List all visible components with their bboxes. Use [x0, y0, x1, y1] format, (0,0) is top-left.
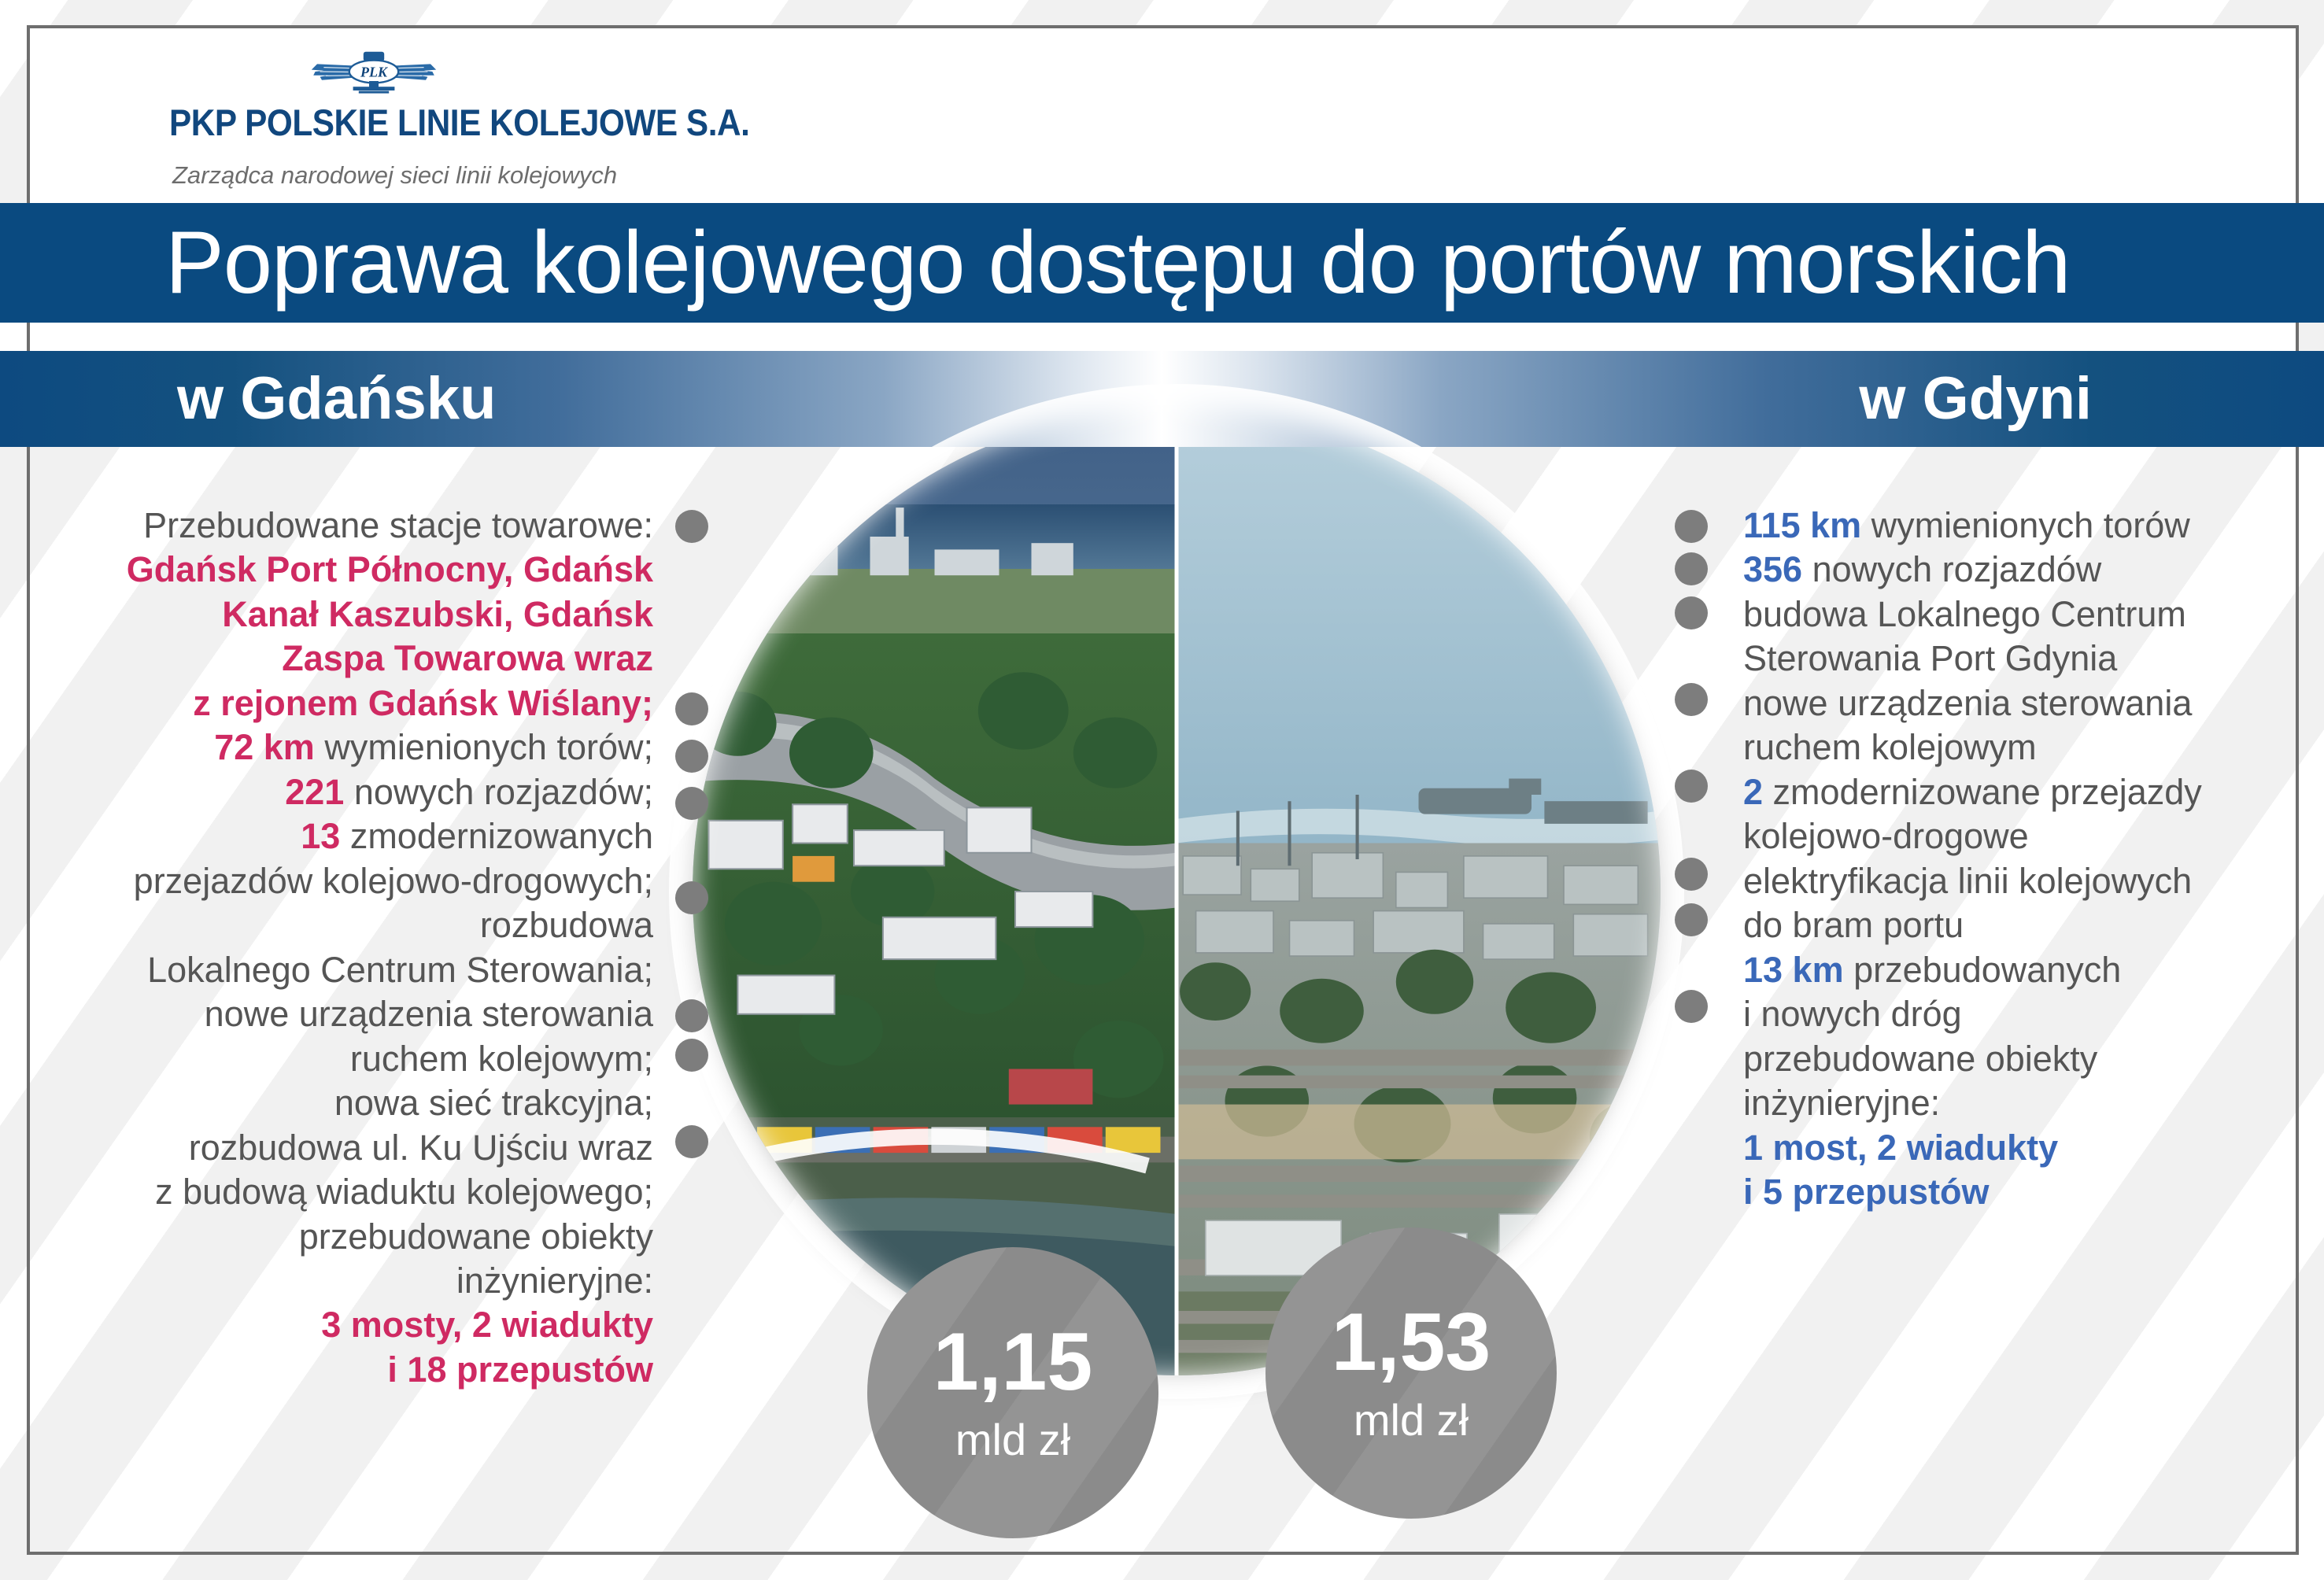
gdansk-fact-highlight: i 18 przepustów — [387, 1349, 653, 1390]
gdansk-fact-line: nowe urządzenia sterowania — [47, 992, 653, 1036]
gdynia-fact-text: ruchem kolejowym — [1743, 727, 2037, 767]
gdansk-fact-line: inżynieryjne: — [47, 1259, 653, 1303]
gdansk-fact-highlight: 13 — [301, 816, 340, 856]
company-tagline: Zarządca narodowej sieci linii kolejowyc… — [172, 161, 814, 190]
gdansk-fact-text: Lokalnego Centrum Sterowania; — [147, 950, 653, 990]
gdansk-fact-text: inżynieryjne: — [456, 1261, 653, 1301]
gdansk-fact-line: Zaspa Towarowa wraz — [47, 637, 653, 681]
gdansk-fact-line: nowa sieć trakcyjna; — [47, 1081, 653, 1125]
gdansk-bullet-dot-icon — [675, 510, 708, 543]
gdynia-bullet-dot-icon — [1675, 770, 1708, 803]
gdynia-fact-line: 1 most, 2 wiadukty — [1743, 1126, 2294, 1170]
gdynia-fact-line: Sterowania Port Gdynia — [1743, 637, 2294, 681]
gdansk-facts-list: Przebudowane stacje towarowe:Gdańsk Port… — [47, 504, 653, 1392]
gdynia-fact-line: do bram portu — [1743, 903, 2294, 947]
gdansk-bullet-dot-icon — [675, 881, 708, 914]
gdynia-fact-line: 2 zmodernizowane przejazdy — [1743, 770, 2294, 814]
gdansk-fact-text: rozbudowa ul. Ku Ujściu wraz — [189, 1128, 653, 1168]
gdynia-fact-line: ruchem kolejowym — [1743, 725, 2294, 770]
gdansk-fact-line: 3 mosty, 2 wiadukty — [47, 1303, 653, 1347]
bar-separator — [30, 323, 2296, 351]
gdynia-fact-line: budowa Lokalnego Centrum — [1743, 592, 2294, 637]
cost-badge-gdynia: 1,53 mld zł — [1265, 1227, 1557, 1519]
gdynia-fact-text: wymienionych torów — [1861, 505, 2190, 545]
gdynia-fact-text: inżynieryjne: — [1743, 1083, 1940, 1123]
gdynia-fact-text: elektryfikacja linii kolejowych — [1743, 861, 2192, 901]
gdynia-bullet-dot-icon — [1675, 510, 1708, 543]
gdynia-facts-list: 115 km wymienionych torów356 nowych rozj… — [1743, 504, 2294, 1215]
gdynia-fact-line: 356 nowych rozjazdów — [1743, 548, 2294, 592]
gdansk-fact-highlight: Kanał Kaszubski, Gdańsk — [222, 594, 653, 634]
cost-unit-gdynia: mld zł — [1354, 1394, 1469, 1445]
gdynia-fact-line: i 5 przepustów — [1743, 1170, 2294, 1214]
gdansk-fact-line: Kanał Kaszubski, Gdańsk — [47, 592, 653, 637]
city-header-bar: w Gdańsku w Gdyni — [0, 351, 2324, 447]
gdansk-fact-text: nowa sieć trakcyjna; — [334, 1083, 653, 1123]
gdansk-fact-highlight: 221 — [285, 772, 344, 812]
gdynia-fact-text: do bram portu — [1743, 905, 1964, 945]
photo-split-divider — [1175, 408, 1179, 1375]
gdynia-fact-highlight: 115 km — [1743, 505, 1861, 545]
gdynia-fact-text: przebudowanych — [1844, 950, 2122, 990]
gdynia-fact-text: Sterowania Port Gdynia — [1743, 638, 2117, 678]
gdynia-fact-text: nowe urządzenia sterowania — [1743, 683, 2192, 723]
gdansk-fact-line: 13 zmodernizowanych — [47, 814, 653, 858]
gdansk-fact-line: Przebudowane stacje towarowe: — [47, 504, 653, 548]
gdynia-bullet-dot-icon — [1675, 683, 1708, 716]
gdynia-fact-line: 13 km przebudowanych — [1743, 948, 2294, 992]
gdynia-fact-highlight: 356 — [1743, 549, 1802, 589]
gdansk-fact-text: przejazdów kolejowo-drogowych; — [134, 861, 653, 901]
gdynia-fact-text: kolejowo-drogowe — [1743, 816, 2029, 856]
gdansk-fact-highlight: 3 mosty, 2 wiadukty — [321, 1305, 653, 1345]
aerial-photo-gdansk — [693, 408, 1177, 1375]
gdansk-fact-line: z budową wiaduktu kolejowego; — [47, 1170, 653, 1214]
gdansk-bullet-dot-icon — [675, 692, 708, 725]
gdansk-bullet-dot-icon — [675, 740, 708, 773]
gdansk-fact-text: nowe urządzenia sterowania — [205, 994, 653, 1034]
gdynia-fact-text: nowych rozjazdów — [1802, 549, 2101, 589]
gdynia-fact-text: i nowych dróg — [1743, 994, 1962, 1034]
gdynia-bullet-dot-icon — [1675, 903, 1708, 936]
gdansk-fact-text: rozbudowa — [480, 905, 653, 945]
gdynia-fact-line: inżynieryjne: — [1743, 1081, 2294, 1125]
gdansk-fact-line: Gdańsk Port Północny, Gdańsk — [47, 548, 653, 592]
gdansk-bullet-dot-icon — [675, 999, 708, 1032]
city-label-gdansk: w Gdańsku — [177, 369, 496, 429]
gdansk-fact-line: ruchem kolejowym; — [47, 1037, 653, 1081]
gdynia-fact-highlight: 13 km — [1743, 950, 1844, 990]
page-title: Poprawa kolejowego dostępu do portów mor… — [165, 219, 2070, 307]
gdynia-fact-line: 115 km wymienionych torów — [1743, 504, 2294, 548]
gdansk-bullet-dot-icon — [675, 1039, 708, 1072]
gdansk-fact-highlight: z rejonem Gdańsk Wiślany; — [193, 683, 653, 723]
gdynia-fact-highlight: i 5 przepustów — [1743, 1172, 1990, 1212]
gdansk-fact-line: Lokalnego Centrum Sterowania; — [47, 948, 653, 992]
gdynia-fact-highlight: 1 most, 2 wiadukty — [1743, 1128, 2058, 1168]
gdansk-fact-line: 221 nowych rozjazdów; — [47, 770, 653, 814]
brand-logo-block: PLK PKP POLSKIE LINIE KOLEJOWE S.A. Zarz… — [169, 47, 814, 190]
gdynia-fact-line: i nowych dróg — [1743, 992, 2294, 1036]
gdynia-fact-text: przebudowane obiekty — [1743, 1039, 2097, 1079]
cost-unit-gdansk: mld zł — [955, 1414, 1070, 1465]
gdansk-fact-line: rozbudowa — [47, 903, 653, 947]
split-aerial-photo-circle — [693, 408, 1661, 1375]
gdansk-fact-highlight: Zaspa Towarowa wraz — [282, 638, 653, 678]
gdansk-fact-line: i 18 przepustów — [47, 1348, 653, 1392]
gdansk-fact-highlight: 72 km — [214, 727, 315, 767]
gdynia-fact-line: elektryfikacja linii kolejowych — [1743, 859, 2294, 903]
gdansk-bullet-dot-icon — [675, 1125, 708, 1158]
gdansk-fact-highlight: Gdańsk Port Północny, Gdańsk — [127, 549, 653, 589]
gdansk-fact-line: przejazdów kolejowo-drogowych; — [47, 859, 653, 903]
svg-text:PLK: PLK — [360, 65, 389, 80]
gdansk-fact-line: z rejonem Gdańsk Wiślany; — [47, 681, 653, 725]
gdansk-fact-text: Przebudowane stacje towarowe: — [143, 505, 653, 545]
cost-value-gdansk: 1,15 — [933, 1321, 1092, 1403]
gdansk-fact-text: ruchem kolejowym; — [350, 1039, 653, 1079]
city-label-gdynia: w Gdyni — [1859, 369, 2092, 429]
gdansk-fact-line: przebudowane obiekty — [47, 1215, 653, 1259]
main-title-bar: Poprawa kolejowego dostępu do portów mor… — [0, 203, 2324, 323]
gdansk-fact-line: 72 km wymienionych torów; — [47, 725, 653, 770]
gdynia-fact-line: kolejowo-drogowe — [1743, 814, 2294, 858]
gdansk-fact-text: z budową wiaduktu kolejowego; — [155, 1172, 653, 1212]
gdynia-fact-highlight: 2 — [1743, 772, 1763, 812]
gdansk-fact-line: rozbudowa ul. Ku Ujściu wraz — [47, 1126, 653, 1170]
gdynia-bullet-dot-icon — [1675, 990, 1708, 1023]
gdynia-bullet-dot-icon — [1675, 552, 1708, 585]
company-name: PKP POLSKIE LINIE KOLEJOWE S.A. — [169, 101, 749, 144]
gdynia-bullet-dot-icon — [1675, 858, 1708, 891]
cost-badge-gdansk: 1,15 mld zł — [867, 1247, 1158, 1538]
cost-value-gdynia: 1,53 — [1332, 1301, 1491, 1383]
gdansk-fact-text: zmodernizowanych — [340, 816, 653, 856]
gdynia-fact-text: zmodernizowane przejazdy — [1763, 772, 2202, 812]
gdynia-bullet-dot-icon — [1675, 596, 1708, 629]
gdansk-bullet-dot-icon — [675, 787, 708, 820]
plk-winged-logo-icon: PLK — [303, 47, 445, 96]
gdynia-fact-line: nowe urządzenia sterowania — [1743, 681, 2294, 725]
gdansk-fact-text: przebudowane obiekty — [299, 1216, 653, 1257]
gdansk-fact-text: nowych rozjazdów; — [344, 772, 653, 812]
gdynia-fact-line: przebudowane obiekty — [1743, 1037, 2294, 1081]
gdynia-fact-text: budowa Lokalnego Centrum — [1743, 594, 2186, 634]
gdansk-fact-text: wymienionych torów; — [315, 727, 653, 767]
